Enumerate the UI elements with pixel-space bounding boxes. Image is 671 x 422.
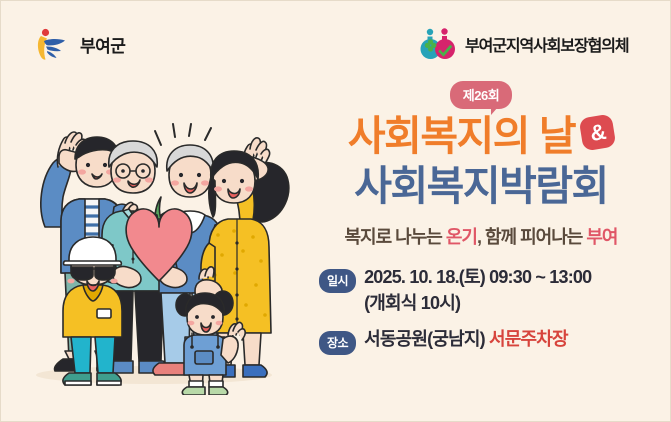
buyeo-gun-symbol-icon xyxy=(31,27,71,61)
poster-text-content: 제26회 사회복지의 날& 사회복지박람회 복지로 나누는 온기, 함께 피어나… xyxy=(297,81,665,360)
place-value-highlight: 서문주차장 xyxy=(489,329,568,349)
edition-badge: 제26회 xyxy=(450,81,512,109)
event-place-row: 장소 서동공원(궁남지) 서문주차장 xyxy=(319,328,665,355)
subtitle-highlight-2: 부여 xyxy=(586,227,617,247)
family-group-holding-heart-illustration xyxy=(9,123,299,395)
council-wordmark: 부여군지역사회보장협의체 xyxy=(465,32,628,56)
edition-badge-wrap: 제26회 xyxy=(297,81,665,111)
social-security-council-symbol-icon xyxy=(419,27,457,61)
event-datetime-row: 일시 2025. 10. 18.(토) 09:30 ~ 13:00 (개회식 1… xyxy=(319,266,665,315)
place-value: 서동공원(궁남지) 서문주차장 xyxy=(364,328,568,351)
subtitle-highlight-1: 온기 xyxy=(446,227,477,247)
title-line-2: 사회복지박람회 xyxy=(297,166,665,207)
datetime-subnote: (개회식 10시) xyxy=(364,293,460,313)
council-logo: 부여군지역사회보장협의체 xyxy=(419,27,628,61)
poster-subtitle: 복지로 나누는 온기, 함께 피어나는 부여 xyxy=(297,223,665,249)
subtitle-part-2: , 함께 피어나는 xyxy=(477,227,586,247)
datetime-value: 2025. 10. 18.(토) 09:30 ~ 13:00 xyxy=(364,267,591,287)
ampersand-badge: & xyxy=(579,113,617,151)
buyeo-gun-logo: 부여군 xyxy=(31,27,125,61)
poster-canvas: 부여군 부여군지역사회보장협의체 xyxy=(0,0,671,422)
place-value-plain: 서동공원(궁남지) xyxy=(364,329,489,349)
title-line-1-text: 사회복지의 날 xyxy=(348,113,575,159)
place-tag-badge: 장소 xyxy=(319,331,356,355)
event-info-block: 일시 2025. 10. 18.(토) 09:30 ~ 13:00 (개회식 1… xyxy=(297,266,665,355)
title-line-1: 사회복지의 날& xyxy=(297,116,665,157)
datetime-tag-badge: 일시 xyxy=(319,269,356,293)
datetime-text-group: 2025. 10. 18.(토) 09:30 ~ 13:00 (개회식 10시) xyxy=(364,266,591,315)
buyeo-gun-wordmark: 부여군 xyxy=(80,32,125,57)
subtitle-part-1: 복지로 나누는 xyxy=(345,227,446,247)
